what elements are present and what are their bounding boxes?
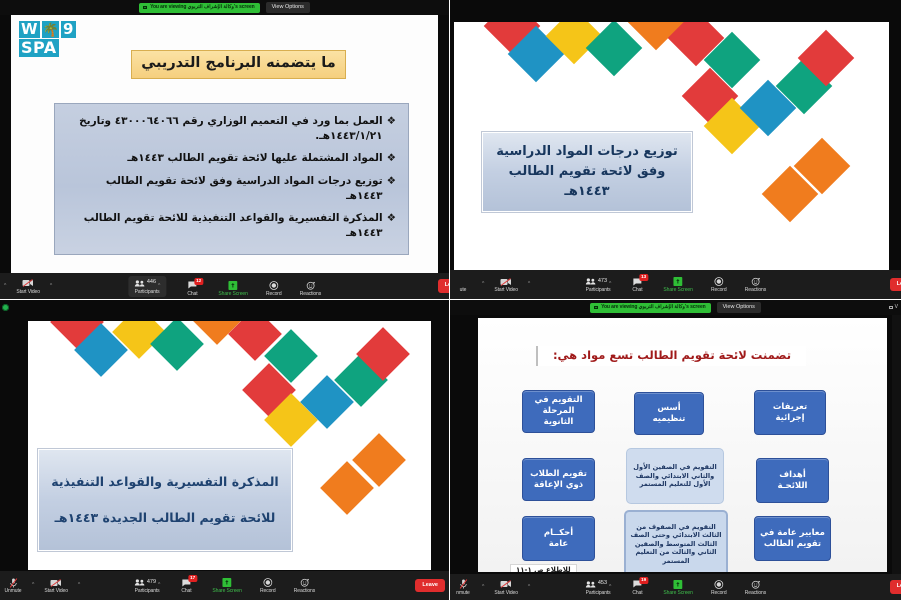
unmute-label: Unmute xyxy=(5,589,22,594)
viewing-screen-notice: You are viewing وكالة الإشراف التربوي's … xyxy=(139,3,260,13)
leave-meeting-button[interactable]: Le xyxy=(890,580,901,594)
chat-label: Chat xyxy=(632,591,642,596)
bullet-item: ❖ توزيع درجات المواد الدراسية وفق لائحة … xyxy=(67,174,396,204)
participants-button[interactable]: 453 ^ Participants xyxy=(585,579,612,596)
record-label: Record xyxy=(266,292,282,297)
slide-title-line: ١٤٤٣هـ xyxy=(491,184,683,200)
mic-options-caret-icon[interactable]: ^ xyxy=(4,284,6,289)
leave-meeting-button[interactable]: Le xyxy=(438,279,450,293)
video-options-caret-icon[interactable]: ^ xyxy=(50,284,52,289)
diagram-node-general-assessment-criteria[interactable]: معايير عامة فيتقويم الطالب xyxy=(754,516,831,561)
diagram-node-regulation-objectives[interactable]: أهدافاللائحـة xyxy=(756,458,829,503)
bullet-text: المذكرة التفسيرية والقواعد التنفيذية للا… xyxy=(67,211,383,241)
unmute-button[interactable]: Unmute xyxy=(4,577,22,594)
zoom-panel-top-right: توزيع درجات المواد الدراسية وفق لائحة تق… xyxy=(450,0,901,300)
bullet-marker-icon: ❖ xyxy=(387,211,396,241)
reactions-icon xyxy=(306,280,315,291)
participants-icon: 453 ^ xyxy=(585,579,612,590)
chat-icon: 17 xyxy=(181,577,191,588)
reactions-label: Reactions xyxy=(745,591,766,596)
slide-body-box: ❖ العمل بما ورد في التعميم الوزاري رقم ٤… xyxy=(54,103,409,255)
bullet-item: ❖ المذكرة التفسيرية والقواعد التنفيذية ل… xyxy=(67,211,396,241)
share-screen-icon xyxy=(229,280,238,291)
diagram-node-grades-3-primary-to-3-intermediate[interactable]: التقويم في الصفوف من الثالث الابتدائي وح… xyxy=(624,510,728,572)
unmute-label: nmute xyxy=(456,591,469,596)
diagram-node-secondary-stage-assessment[interactable]: التقويم فيالمرحلة الثانوية xyxy=(522,390,595,433)
participants-icon: 473 ^ xyxy=(585,276,612,287)
shared-slide-4: تضمنت لائحة تقويم الطالب تسع مواد هي: ال… xyxy=(478,318,887,572)
slide-title-box: المذكرة التفسيرية والقواعد التنفيذية للا… xyxy=(38,449,292,551)
monitor-icon xyxy=(143,6,147,9)
bullet-item: ❖ العمل بما ورد في التعميم الوزاري رقم ٤… xyxy=(67,114,396,144)
participants-caret-icon[interactable]: ^ xyxy=(158,284,160,289)
bullet-text: المواد المشتملة عليها لائحة تقويم الطالب… xyxy=(67,151,383,166)
topbar-right-indicator: V xyxy=(889,304,898,310)
share-screen-label: Share Screen xyxy=(663,288,692,293)
diagram-node-students-with-disabilities[interactable]: تقويم الطلابذوي الإعاقة xyxy=(522,458,595,501)
chat-button[interactable]: 17 Chat xyxy=(177,577,195,594)
start-video-label: Start Video xyxy=(494,591,518,596)
start-video-button[interactable]: Start Video xyxy=(44,577,68,594)
mute-label: ute xyxy=(460,288,467,293)
participants-count: 453 xyxy=(598,581,607,587)
zoom-control-bar: nmute ^ Start Video ^ 453 ^ xyxy=(450,574,901,600)
mute-button[interactable]: ute xyxy=(454,288,472,293)
zoom-panel-bottom-right: You are viewing وكالة الإشراف التربوي's … xyxy=(450,300,901,600)
monitor-icon xyxy=(594,306,598,309)
share-screen-button[interactable]: Share Screen xyxy=(663,276,692,293)
chat-label: Chat xyxy=(187,292,197,297)
view-options-button[interactable]: View Options xyxy=(266,2,310,14)
share-screen-icon xyxy=(223,577,232,588)
reactions-button[interactable]: Reactions xyxy=(745,579,766,596)
participants-button[interactable]: 473 ^ Participants xyxy=(585,276,612,293)
participants-button[interactable]: 479 ^ Participants xyxy=(134,577,161,594)
chat-label: Chat xyxy=(632,288,642,293)
zoom-panel-bottom-left: المذكرة التفسيرية والقواعد التنفيذية للا… xyxy=(0,300,450,600)
participants-label: Participants xyxy=(135,589,160,594)
bullet-marker-icon: ❖ xyxy=(387,151,396,166)
start-video-button[interactable]: Start Video xyxy=(16,278,40,295)
viewing-screen-notice: You are viewing وكالة الإشراف التربوي's … xyxy=(590,303,711,313)
participants-icon: 479 ^ xyxy=(134,577,161,588)
participants-caret-icon[interactable]: ^ xyxy=(609,282,611,287)
record-icon xyxy=(714,579,723,590)
screenshot-collage: You are viewing وكالة الإشراف التربوي's … xyxy=(0,0,901,600)
share-screen-label: Share Screen xyxy=(663,591,692,596)
zoom-panel-top-left: You are viewing وكالة الإشراف التربوي's … xyxy=(0,0,450,300)
camera-off-icon xyxy=(22,278,34,289)
share-screen-icon xyxy=(674,579,683,590)
video-options-caret-icon[interactable]: ^ xyxy=(78,583,80,588)
share-screen-button[interactable]: Share Screen xyxy=(212,577,241,594)
reactions-icon xyxy=(300,577,309,588)
record-icon xyxy=(269,280,278,291)
leave-meeting-button[interactable]: Leave xyxy=(415,579,445,593)
node-label: أحكــامعامة xyxy=(544,528,573,550)
participants-caret-icon[interactable]: ^ xyxy=(158,583,160,588)
chat-button[interactable]: 19 Chat xyxy=(628,579,646,596)
viewing-notice-text: You are viewing وكالة الإشراف التربوي's … xyxy=(150,5,255,10)
bullet-text: العمل بما ورد في التعميم الوزاري رقم ٤٣٠… xyxy=(67,114,383,144)
slide-title-banner: ما يتضمنه البرنامج التدريبي xyxy=(131,50,346,79)
diagram-node-organizational-bases[interactable]: أسستنظيميه xyxy=(634,392,704,435)
chat-label: Chat xyxy=(181,589,191,594)
participants-caret-icon[interactable]: ^ xyxy=(609,585,611,590)
slide-title-line: وفق لائحة تقويم الطالب xyxy=(491,164,683,180)
reactions-label: Reactions xyxy=(294,589,315,594)
leave-meeting-button[interactable]: Le xyxy=(890,278,901,292)
slide-title-text: ما يتضمنه البرنامج التدريبي xyxy=(136,56,341,72)
diagram-title-text: تضمنت لائحة تقويم الطالب تسع مواد هي: xyxy=(544,349,800,362)
node-label: التقويم فيالمرحلة الثانوية xyxy=(527,395,590,428)
diagram-node-general-provisions[interactable]: أحكــامعامة xyxy=(522,516,595,561)
chat-button[interactable]: 13 Chat xyxy=(628,276,646,293)
shared-slide-1: W 🌴 9 SPA ما يتضمنه البرنامج التدريبي ❖ … xyxy=(11,15,438,273)
share-screen-button[interactable]: Share Screen xyxy=(663,579,692,596)
view-options-button[interactable]: View Options xyxy=(717,302,761,314)
slide-title-line: توزيع درجات المواد الدراسية xyxy=(491,144,683,160)
diagram-title: تضمنت لائحة تقويم الطالب تسع مواد هي: xyxy=(536,346,806,366)
spa-logo: W 🌴 9 SPA xyxy=(19,21,81,57)
record-icon xyxy=(263,577,272,588)
bullet-marker-icon: ❖ xyxy=(387,174,396,204)
record-label: Record xyxy=(711,591,727,596)
video-options-caret-icon[interactable]: ^ xyxy=(528,282,530,287)
node-label: أهدافاللائحـة xyxy=(778,470,808,492)
share-screen-label: Share Screen xyxy=(218,292,247,297)
reactions-button[interactable]: Reactions xyxy=(745,276,766,293)
bullet-marker-icon: ❖ xyxy=(387,114,396,144)
node-label: تعريفاتإجرائية xyxy=(773,402,807,424)
share-screen-label: Share Screen xyxy=(212,589,241,594)
start-video-label: Start Video xyxy=(494,288,518,293)
camera-off-icon xyxy=(500,276,512,287)
recording-indicator-icon xyxy=(2,304,9,311)
record-button[interactable]: Record xyxy=(259,577,277,594)
unmute-button[interactable]: nmute xyxy=(454,579,472,596)
start-video-button[interactable]: Start Video xyxy=(494,579,518,596)
chat-button[interactable]: 12 Chat xyxy=(183,280,201,297)
chat-unread-badge: 13 xyxy=(639,274,649,281)
participants-count: 473 xyxy=(598,279,607,285)
node-label: أسستنظيميه xyxy=(653,403,686,425)
mic-options-caret-icon[interactable]: ^ xyxy=(32,583,34,588)
record-button[interactable]: Record xyxy=(710,276,728,293)
participants-label: Participants xyxy=(586,288,611,293)
zoom-control-bar: Unmute ^ Start Video ^ 479 ^ xyxy=(0,571,449,600)
record-label: Record xyxy=(711,288,727,293)
node-label: معايير عامة فيتقويم الطالب xyxy=(760,528,825,550)
node-label: التقويم في الصفين الأول والثاني الابتدائ… xyxy=(631,463,719,488)
microphone-off-icon xyxy=(459,579,468,590)
shared-slide-3: المذكرة التفسيرية والقواعد التنفيذية للا… xyxy=(28,321,431,570)
start-video-label: Start Video xyxy=(16,290,40,295)
screen-share-topbar: You are viewing وكالة الإشراف التربوي's … xyxy=(450,300,901,315)
viewing-notice-text: You are viewing وكالة الإشراف التربوي's … xyxy=(601,305,706,310)
reactions-icon xyxy=(751,579,760,590)
reactions-label: Reactions xyxy=(300,292,321,297)
bullet-text: توزيع درجات المواد الدراسية وفق لائحة تق… xyxy=(67,174,383,204)
share-screen-button[interactable]: Share Screen xyxy=(218,280,247,297)
topbar-right-label: V xyxy=(895,304,898,310)
bullet-item: ❖ المواد المشتملة عليها لائحة تقويم الطا… xyxy=(67,151,396,166)
chat-icon: 19 xyxy=(632,579,642,590)
chat-unread-badge: 19 xyxy=(639,577,649,584)
start-video-button[interactable]: Start Video xyxy=(494,276,518,293)
node-label: تقويم الطلابذوي الإعاقة xyxy=(530,469,587,491)
reactions-label: Reactions xyxy=(745,288,766,293)
chat-unread-badge: 17 xyxy=(188,575,198,582)
participants-button[interactable]: 446 ^ Participants xyxy=(128,276,167,297)
chat-unread-badge: 12 xyxy=(194,278,204,285)
camera-off-icon xyxy=(50,577,62,588)
screen-share-topbar: You are viewing وكالة الإشراف التربوي's … xyxy=(0,0,449,15)
zoom-control-bar: ^ Start Video ^ 446 ^ Participants xyxy=(0,273,449,299)
slide-title-line: للائحة تقويم الطالب الجديدة ١٤٤٣هـ xyxy=(49,510,281,526)
participants-count: 479 xyxy=(147,580,156,586)
reactions-button[interactable]: Reactions xyxy=(294,577,315,594)
diagram-node-grades-1-2-primary[interactable]: التقويم في الصفين الأول والثاني الابتدائ… xyxy=(626,448,724,504)
node-label: التقويم في الصفوف من الثالث الابتدائي وح… xyxy=(630,523,722,565)
slide-title-line: المذكرة التفسيرية والقواعد التنفيذية xyxy=(49,474,281,490)
slide-title-box: توزيع درجات المواد الدراسية وفق لائحة تق… xyxy=(482,132,692,212)
participants-label: Participants xyxy=(135,290,160,295)
chat-icon: 13 xyxy=(632,276,642,287)
start-video-label: Start Video xyxy=(44,589,68,594)
record-button[interactable]: Record xyxy=(710,579,728,596)
record-button[interactable]: Record xyxy=(265,280,283,297)
reactions-button[interactable]: Reactions xyxy=(300,280,321,297)
participants-label: Participants xyxy=(586,591,611,596)
shared-slide-2: توزيع درجات المواد الدراسية وفق لائحة تق… xyxy=(454,22,889,270)
video-options-caret-icon[interactable]: ^ xyxy=(528,585,530,590)
share-screen-icon xyxy=(674,276,683,287)
diagram-node-procedural-definitions[interactable]: تعريفاتإجرائية xyxy=(754,390,826,435)
camera-off-icon xyxy=(500,579,512,590)
mic-options-caret-icon[interactable]: ^ xyxy=(482,282,484,287)
record-label: Record xyxy=(260,589,276,594)
microphone-off-icon xyxy=(9,577,18,588)
participants-count: 446 xyxy=(147,280,156,286)
video-strip-panel xyxy=(892,300,901,600)
chat-icon: 12 xyxy=(187,280,197,291)
palm-emblem-icon: 🌴 xyxy=(42,21,59,38)
mic-options-caret-icon[interactable]: ^ xyxy=(482,585,484,590)
diagram-footnote: للاطلاع ص ١-١١ xyxy=(510,564,577,572)
zoom-control-bar: ute ^ Start Video ^ 473 ^ xyxy=(450,270,901,299)
participants-icon: 446 ^ xyxy=(134,278,161,289)
monitor-small-icon xyxy=(889,306,893,309)
reactions-icon xyxy=(751,276,760,287)
record-icon xyxy=(714,276,723,287)
spa-logo-latin: SPA xyxy=(19,39,59,57)
